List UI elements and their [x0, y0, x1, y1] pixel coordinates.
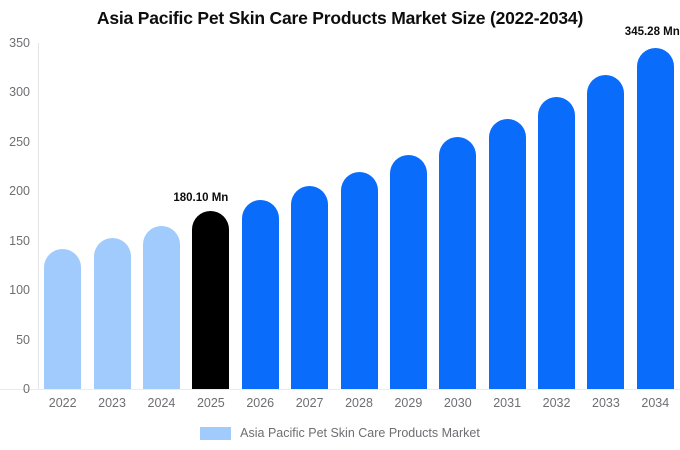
x-axis-tick-2031: 2031	[489, 396, 526, 410]
bar-group-2026[interactable]	[242, 43, 279, 389]
bar-2031[interactable]	[489, 119, 526, 389]
x-axis-line	[0, 389, 680, 390]
x-axis-tick-2028: 2028	[341, 396, 378, 410]
y-axis-tick-150: 150	[0, 234, 30, 248]
bar-2025[interactable]	[192, 211, 229, 389]
bar-group-2025[interactable]	[192, 43, 229, 389]
bar-group-2031[interactable]	[489, 43, 526, 389]
bar-group-2033[interactable]	[587, 43, 624, 389]
chart-legend: Asia Pacific Pet Skin Care Products Mark…	[0, 426, 680, 440]
chart-container: Asia Pacific Pet Skin Care Products Mark…	[0, 0, 680, 450]
x-axis-tick-2027: 2027	[291, 396, 328, 410]
bar-group-2034[interactable]	[637, 43, 674, 389]
bar-2030[interactable]	[439, 137, 476, 389]
bar-group-2027[interactable]	[291, 43, 328, 389]
y-axis-tick-200: 200	[0, 184, 30, 198]
bar-2034[interactable]	[637, 48, 674, 389]
bar-2029[interactable]	[390, 155, 427, 389]
bar-2032[interactable]	[538, 97, 575, 389]
bar-group-2030[interactable]	[439, 43, 476, 389]
legend-swatch-icon	[200, 427, 231, 440]
x-axis-tick-2030: 2030	[439, 396, 476, 410]
bar-2028[interactable]	[341, 172, 378, 389]
y-axis-tick-100: 100	[0, 283, 30, 297]
bar-2024[interactable]	[143, 226, 180, 389]
bar-group-2024[interactable]	[143, 43, 180, 389]
bar-group-2029[interactable]	[390, 43, 427, 389]
y-axis-tick-0: 0	[0, 382, 30, 396]
x-axis-tick-2026: 2026	[242, 396, 279, 410]
x-axis-tick-2032: 2032	[538, 396, 575, 410]
bar-value-label-2025: 180.10 Mn	[173, 192, 228, 204]
bar-2022[interactable]	[44, 249, 81, 389]
bar-2033[interactable]	[587, 75, 624, 389]
y-axis-tick-300: 300	[0, 85, 30, 99]
bar-group-2023[interactable]	[94, 43, 131, 389]
x-axis-tick-2022: 2022	[44, 396, 81, 410]
bar-group-2032[interactable]	[538, 43, 575, 389]
bar-value-label-2034: 345.28 Mn	[625, 26, 680, 38]
x-axis-tick-2024: 2024	[143, 396, 180, 410]
bar-2023[interactable]	[94, 238, 131, 389]
y-axis-tick-350: 350	[0, 36, 30, 50]
bar-group-2022[interactable]	[44, 43, 81, 389]
bar-2027[interactable]	[291, 186, 328, 389]
y-axis-tick-250: 250	[0, 135, 30, 149]
y-axis-tick-50: 50	[0, 333, 30, 347]
plot-area: 180.10 Mn345.28 Mn	[38, 43, 680, 389]
x-axis-tick-2025: 2025	[192, 396, 229, 410]
x-axis-tick-2029: 2029	[390, 396, 427, 410]
x-axis-tick-2033: 2033	[587, 396, 624, 410]
x-axis-tick-2034: 2034	[637, 396, 674, 410]
legend-label: Asia Pacific Pet Skin Care Products Mark…	[240, 426, 480, 440]
chart-title: Asia Pacific Pet Skin Care Products Mark…	[0, 8, 680, 29]
bar-group-2028[interactable]	[341, 43, 378, 389]
x-axis-tick-2023: 2023	[94, 396, 131, 410]
bar-2026[interactable]	[242, 200, 279, 389]
